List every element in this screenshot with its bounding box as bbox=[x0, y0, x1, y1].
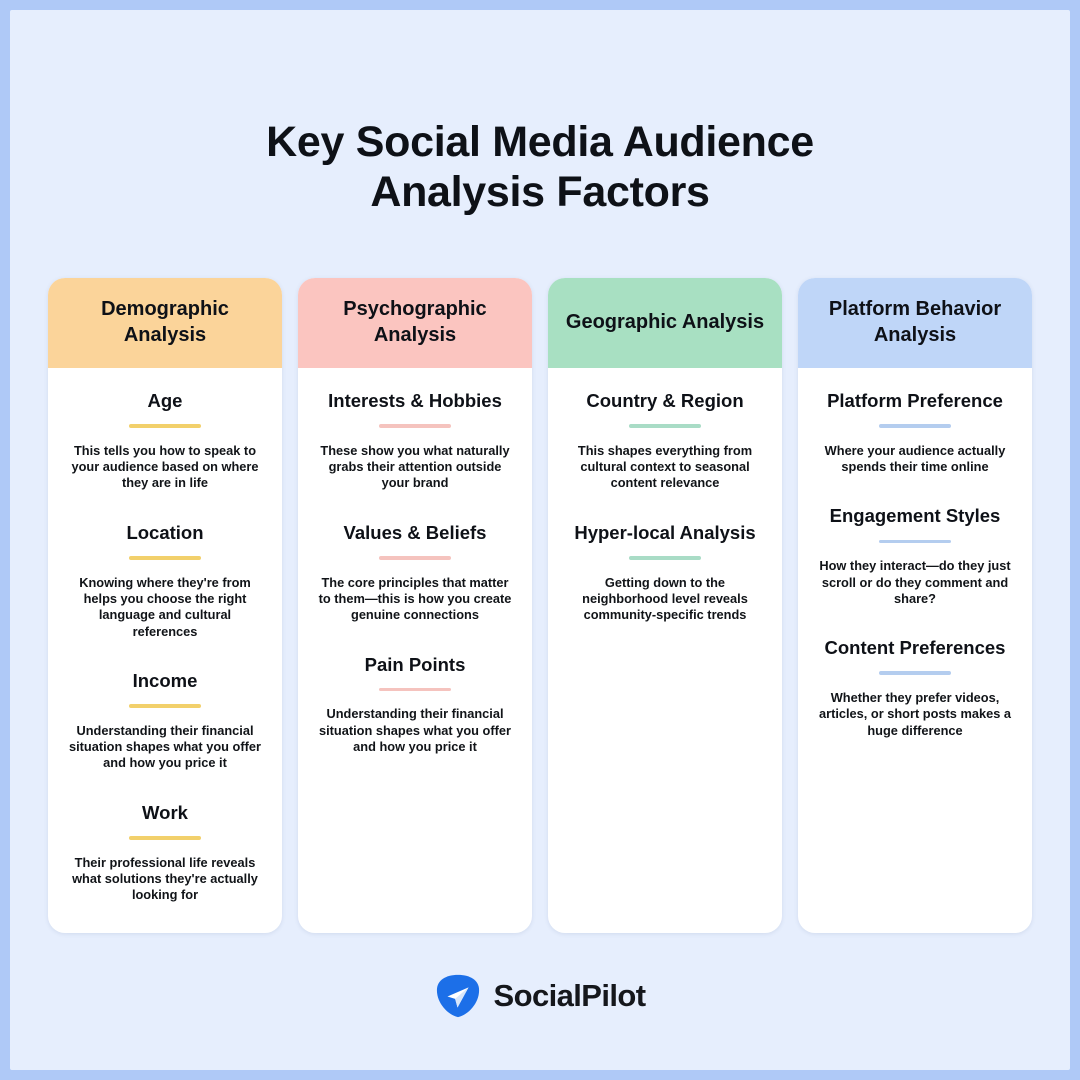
factor-section-description: How they interact—do they just scroll or… bbox=[812, 558, 1018, 607]
accent-divider bbox=[129, 424, 201, 428]
factor-section-description: Knowing where they're from helps you cho… bbox=[62, 575, 268, 641]
card-header: Psychographic Analysis bbox=[298, 278, 532, 368]
page-title-line-1: Key Social Media Audience bbox=[266, 118, 814, 166]
accent-divider bbox=[879, 424, 951, 428]
accent-divider bbox=[379, 688, 451, 692]
accent-divider bbox=[629, 556, 701, 560]
card-body: Platform PreferenceWhere your audience a… bbox=[798, 368, 1032, 933]
factor-section-title: Hyper-local Analysis bbox=[562, 522, 768, 544]
factor-section: Engagement StylesHow they interact—do th… bbox=[812, 505, 1018, 607]
factor-section: Pain PointsUnderstanding their financial… bbox=[312, 654, 518, 756]
factor-section-description: These show you what naturally grabs thei… bbox=[312, 443, 518, 492]
factor-section-description: This tells you how to speak to your audi… bbox=[62, 443, 268, 492]
factor-section: Country & RegionThis shapes everything f… bbox=[562, 390, 768, 492]
factor-section-description: The core principles that matter to them—… bbox=[312, 575, 518, 624]
factor-section: Content PreferencesWhether they prefer v… bbox=[812, 637, 1018, 739]
factor-section-title: Values & Beliefs bbox=[312, 522, 518, 544]
card-body: Country & RegionThis shapes everything f… bbox=[548, 368, 782, 933]
factor-section-description: Getting down to the neighborhood level r… bbox=[562, 575, 768, 624]
factor-section: Values & BeliefsThe core principles that… bbox=[312, 522, 518, 624]
factor-card: Geographic AnalysisCountry & RegionThis … bbox=[548, 278, 782, 933]
paper-plane-icon bbox=[435, 973, 481, 1019]
factor-section: WorkTheir professional life reveals what… bbox=[62, 802, 268, 904]
infographic-canvas: Key Social Media Audience Analysis Facto… bbox=[10, 10, 1070, 1070]
page-title-line-2: Analysis Factors bbox=[370, 168, 709, 216]
card-header: Platform Behavior Analysis bbox=[798, 278, 1032, 368]
factor-section-title: Income bbox=[62, 670, 268, 692]
factor-section: Interests & HobbiesThese show you what n… bbox=[312, 390, 518, 492]
brand-footer: SocialPilot bbox=[10, 973, 1070, 1019]
factor-section-title: Interests & Hobbies bbox=[312, 390, 518, 412]
factor-section-title: Work bbox=[62, 802, 268, 824]
factor-section-description: Understanding their financial situation … bbox=[62, 723, 268, 772]
factor-section-title: Content Preferences bbox=[812, 637, 1018, 659]
factor-section: Platform PreferenceWhere your audience a… bbox=[812, 390, 1018, 475]
factor-section-title: Engagement Styles bbox=[812, 505, 1018, 527]
card-header: Geographic Analysis bbox=[548, 278, 782, 368]
factor-section-title: Country & Region bbox=[562, 390, 768, 412]
accent-divider bbox=[129, 556, 201, 560]
factor-section-title: Age bbox=[62, 390, 268, 412]
card-body: AgeThis tells you how to speak to your a… bbox=[48, 368, 282, 933]
factor-section-description: Where your audience actually spends thei… bbox=[812, 443, 1018, 476]
factor-section: IncomeUnderstanding their financial situ… bbox=[62, 670, 268, 772]
card-header-label: Geographic Analysis bbox=[566, 310, 764, 336]
accent-divider bbox=[129, 836, 201, 840]
factor-section-description: Understanding their financial situation … bbox=[312, 706, 518, 755]
factor-section-description: Whether they prefer videos, articles, or… bbox=[812, 690, 1018, 739]
accent-divider bbox=[379, 424, 451, 428]
outer-frame: Key Social Media Audience Analysis Facto… bbox=[0, 0, 1080, 1080]
factor-section-description: This shapes everything from cultural con… bbox=[562, 443, 768, 492]
factor-section-title: Platform Preference bbox=[812, 390, 1018, 412]
factor-card: Demographic AnalysisAgeThis tells you ho… bbox=[48, 278, 282, 933]
accent-divider bbox=[629, 424, 701, 428]
accent-divider bbox=[879, 671, 951, 675]
brand-name: SocialPilot bbox=[494, 978, 646, 1014]
card-header: Demographic Analysis bbox=[48, 278, 282, 368]
card-header-label: Demographic Analysis bbox=[60, 297, 270, 348]
factor-card-row: Demographic AnalysisAgeThis tells you ho… bbox=[48, 278, 1032, 933]
factor-card: Psychographic AnalysisInterests & Hobbie… bbox=[298, 278, 532, 933]
factor-section: LocationKnowing where they're from helps… bbox=[62, 522, 268, 640]
accent-divider bbox=[379, 556, 451, 560]
factor-section-title: Location bbox=[62, 522, 268, 544]
factor-card: Platform Behavior AnalysisPlatform Prefe… bbox=[798, 278, 1032, 933]
accent-divider bbox=[129, 704, 201, 708]
card-body: Interests & HobbiesThese show you what n… bbox=[298, 368, 532, 933]
card-header-label: Platform Behavior Analysis bbox=[810, 297, 1020, 348]
factor-section: AgeThis tells you how to speak to your a… bbox=[62, 390, 268, 492]
factor-section: Hyper-local AnalysisGetting down to the … bbox=[562, 522, 768, 624]
factor-section-title: Pain Points bbox=[312, 654, 518, 676]
accent-divider bbox=[879, 540, 951, 544]
card-header-label: Psychographic Analysis bbox=[310, 297, 520, 348]
factor-section-description: Their professional life reveals what sol… bbox=[62, 855, 268, 904]
page-title: Key Social Media Audience Analysis Facto… bbox=[10, 118, 1070, 218]
